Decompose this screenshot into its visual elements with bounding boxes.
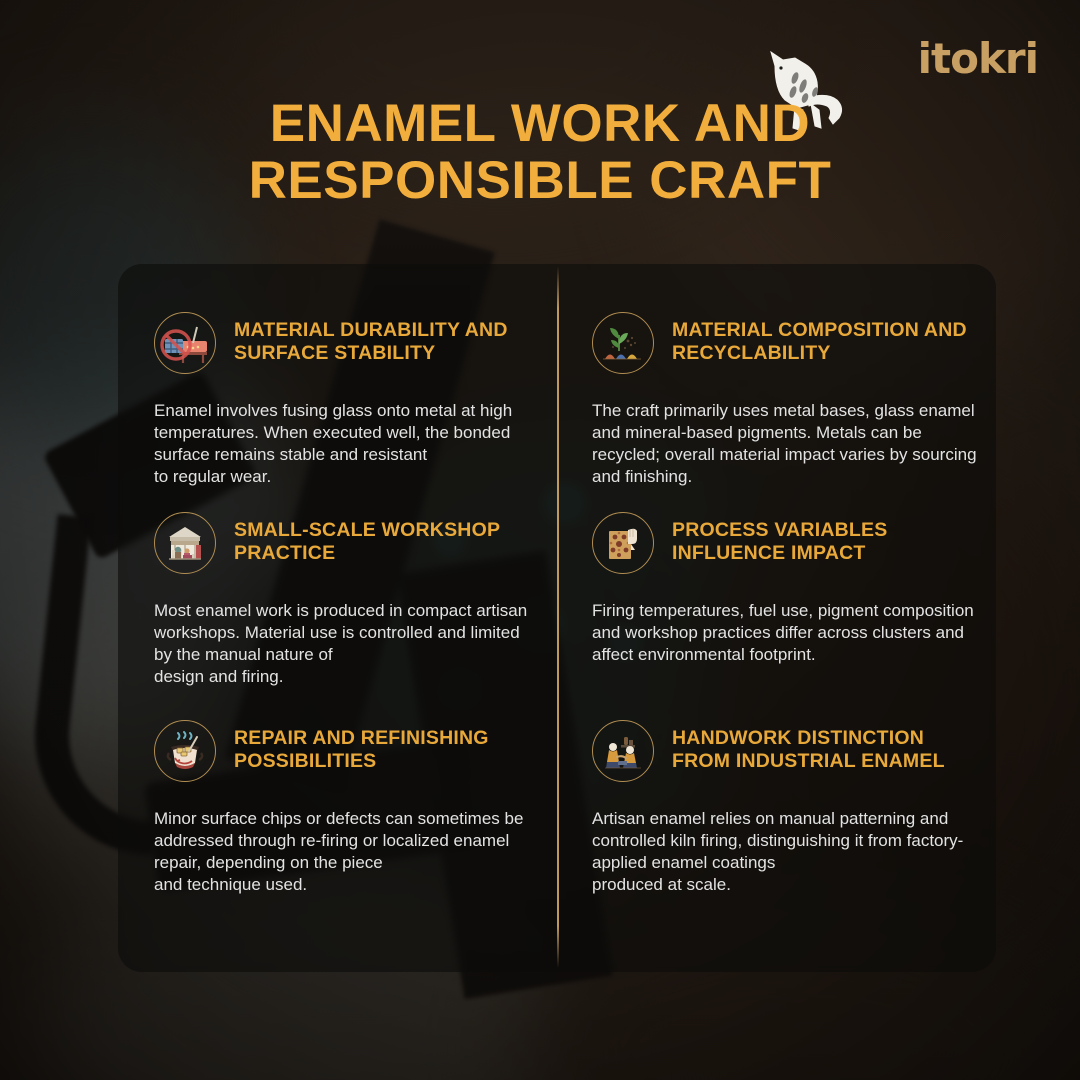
steaming-dye-pot-icon bbox=[154, 720, 216, 782]
point-block: SMALL-SCALE WORKSHOP PRACTICE Most ename… bbox=[118, 464, 558, 672]
page-title-line-2: RESPONSIBLE CRAFT bbox=[150, 153, 930, 210]
point-block: MATERIAL COMPOSITION AND RECYCLABILITY T… bbox=[558, 264, 996, 464]
point-body: Minor surface chips or defects can somet… bbox=[154, 808, 540, 896]
hand-holding-printed-fabric-icon bbox=[592, 512, 654, 574]
no-industrial-workbench-icon bbox=[154, 312, 216, 374]
point-header: HANDWORK DISTINCTION FROM INDUSTRIAL ENA… bbox=[592, 720, 986, 782]
point-header: SMALL-SCALE WORKSHOP PRACTICE bbox=[154, 512, 540, 574]
point-header: REPAIR AND REFINISHING POSSIBILITIES bbox=[154, 720, 540, 782]
two-artisans-working-icon bbox=[592, 720, 654, 782]
point-block: MATERIAL DURABILITY AND SURFACE STABILIT… bbox=[118, 264, 558, 464]
point-header: MATERIAL COMPOSITION AND RECYCLABILITY bbox=[592, 312, 986, 374]
workshop-storefront-icon bbox=[154, 512, 216, 574]
point-header: PROCESS VARIABLES INFLUENCE IMPACT bbox=[592, 512, 986, 574]
page-title: ENAMEL WORK AND RESPONSIBLE CRAFT bbox=[0, 96, 1080, 209]
points-grid: MATERIAL DURABILITY AND SURFACE STABILIT… bbox=[118, 264, 996, 972]
point-heading: HANDWORK DISTINCTION FROM INDUSTRIAL ENA… bbox=[672, 720, 986, 773]
point-block: PROCESS VARIABLES INFLUENCE IMPACT Firin… bbox=[558, 464, 996, 672]
page-title-line-1: ENAMEL WORK AND bbox=[150, 96, 930, 153]
brand-logo-text: itokri bbox=[918, 34, 1038, 83]
point-heading: MATERIAL DURABILITY AND SURFACE STABILIT… bbox=[234, 312, 540, 365]
point-body: Firing temperatures, fuel use, pigment c… bbox=[592, 600, 986, 666]
point-heading: MATERIAL COMPOSITION AND RECYCLABILITY bbox=[672, 312, 986, 365]
point-heading: REPAIR AND REFINISHING POSSIBILITIES bbox=[234, 720, 540, 773]
plant-sprout-pigments-icon bbox=[592, 312, 654, 374]
point-header: MATERIAL DURABILITY AND SURFACE STABILIT… bbox=[154, 312, 540, 374]
point-block: HANDWORK DISTINCTION FROM INDUSTRIAL ENA… bbox=[558, 672, 996, 972]
point-body: Artisan enamel relies on manual patterni… bbox=[592, 808, 986, 896]
point-block: REPAIR AND REFINISHING POSSIBILITIES Min… bbox=[118, 672, 558, 972]
brand-logo: itokri bbox=[918, 34, 1038, 83]
point-heading: SMALL-SCALE WORKSHOP PRACTICE bbox=[234, 512, 540, 565]
point-heading: PROCESS VARIABLES INFLUENCE IMPACT bbox=[672, 512, 986, 565]
